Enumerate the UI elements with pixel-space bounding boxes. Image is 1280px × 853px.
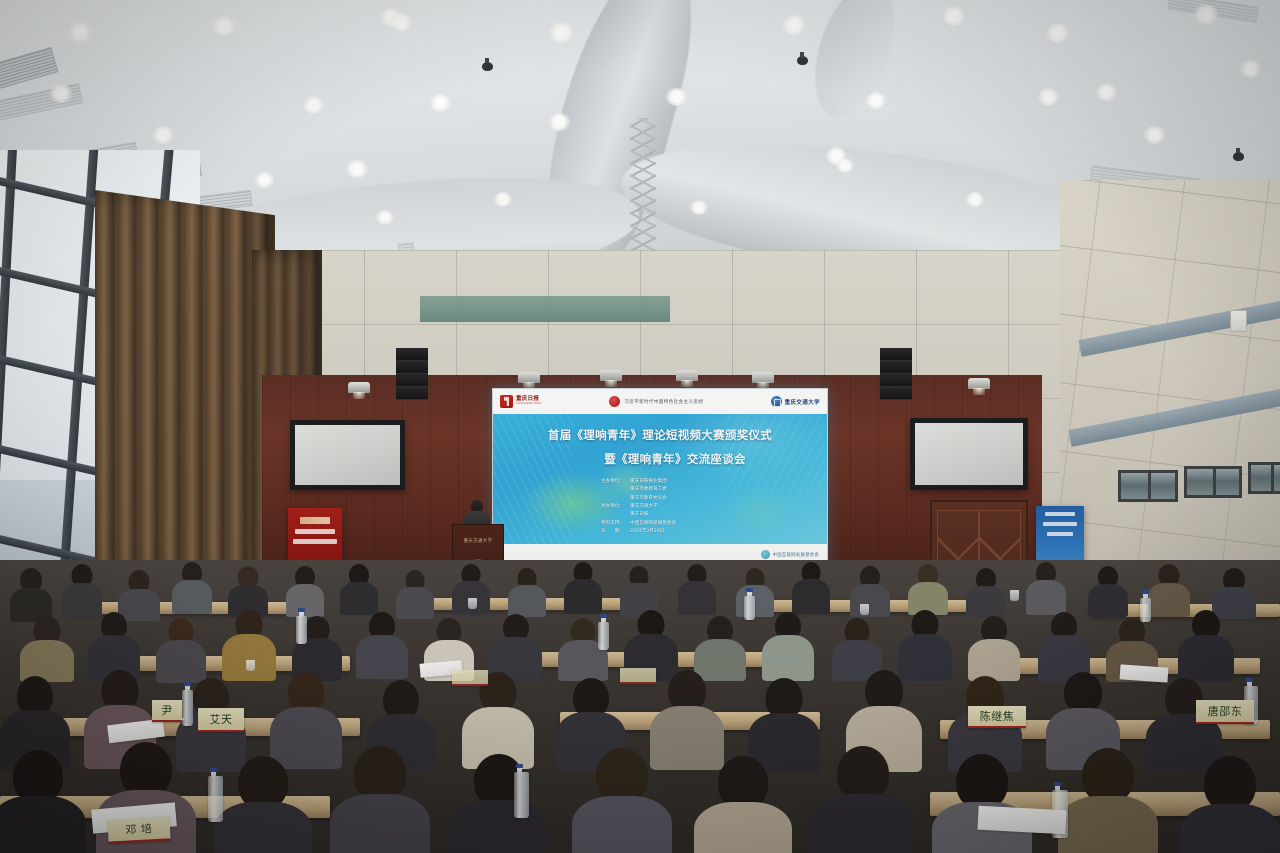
slide-title-line-2: 暨《理响青年》交流座谈会 bbox=[493, 451, 827, 467]
downlight-icon bbox=[1240, 60, 1261, 78]
audience-member bbox=[156, 618, 206, 682]
downlight-icon bbox=[782, 15, 806, 35]
logo-left-en-label: CHONGQING DAILY bbox=[516, 403, 542, 406]
water-bottle bbox=[514, 772, 529, 818]
downlight-icon bbox=[255, 172, 274, 188]
audience-member bbox=[736, 568, 774, 616]
stage-light-icon bbox=[518, 372, 540, 383]
side-display-screen-left bbox=[290, 420, 405, 490]
podium-name-plate: 重庆交通大学 bbox=[464, 538, 493, 544]
slide-meta-value: 重庆交通大学 bbox=[630, 503, 658, 511]
slide-meta-row: 特别支持：中国互联网发展基金会 bbox=[601, 520, 827, 528]
water-bottle bbox=[744, 596, 755, 620]
audience-member-foreground bbox=[0, 750, 86, 853]
name-placard bbox=[452, 670, 488, 686]
downlight-icon bbox=[50, 84, 72, 103]
audience-member bbox=[1026, 562, 1066, 614]
stage-light-icon bbox=[968, 378, 990, 389]
document-paper bbox=[977, 806, 1066, 835]
slide-organizer-list: 主办单位：重庆日报报业集团重庆市委教育工委重庆市教育委员会承办单位：重庆交通大学… bbox=[493, 478, 827, 537]
slide-meta-row: 重庆市教育委员会 bbox=[601, 495, 827, 503]
slide-meta-row: 日 期：2024年3月29日 bbox=[601, 528, 827, 536]
audience-member bbox=[490, 614, 542, 680]
university-seal-icon bbox=[771, 396, 782, 407]
foundation-logo-icon bbox=[761, 550, 770, 559]
speaker-array-icon bbox=[880, 348, 912, 400]
speaker-array-icon bbox=[396, 348, 428, 400]
left-curtain bbox=[95, 190, 275, 610]
audience-member bbox=[620, 566, 658, 616]
downlight-icon bbox=[1046, 23, 1069, 43]
paper-cup bbox=[860, 604, 869, 615]
stage-light-icon bbox=[600, 370, 622, 381]
audience-member bbox=[1178, 610, 1234, 680]
paper-cup bbox=[468, 598, 477, 609]
name-placard: 艾天 bbox=[198, 708, 244, 732]
downlight-icon bbox=[494, 192, 512, 207]
audience-member bbox=[968, 616, 1020, 680]
audience-member bbox=[228, 566, 268, 616]
downlight-icon bbox=[836, 158, 854, 173]
paper-cup bbox=[246, 660, 255, 671]
water-bottle bbox=[296, 616, 307, 644]
standee-red-logo-icon bbox=[300, 517, 330, 524]
audience-member-foreground bbox=[450, 754, 548, 853]
ceiling-camera-icon bbox=[482, 62, 493, 71]
wall-green-accent-band bbox=[420, 296, 670, 322]
logo-right-label: 重庆交通大学 bbox=[785, 398, 820, 406]
audience-member-foreground bbox=[812, 746, 914, 853]
downlight-icon bbox=[666, 88, 687, 106]
audience-member bbox=[762, 612, 814, 680]
downlight-icon bbox=[549, 113, 570, 131]
slide-body: 首届《理响青年》理论短视频大赛颁奖仪式 暨《理响青年》交流座谈会 主办单位：重庆… bbox=[493, 414, 827, 546]
downlight-icon bbox=[549, 22, 574, 43]
audience-member-foreground bbox=[330, 746, 430, 853]
small-window bbox=[1184, 466, 1242, 498]
downlight-icon bbox=[376, 210, 394, 225]
slide-meta-label: 主办单位： bbox=[601, 478, 627, 486]
audience-member bbox=[564, 562, 602, 614]
audience-member bbox=[1038, 612, 1090, 680]
audience-member bbox=[62, 564, 102, 616]
audience-member-foreground bbox=[1058, 748, 1158, 853]
audience-member bbox=[508, 568, 546, 616]
slide-meta-value: 重庆日报报业集团 bbox=[630, 478, 667, 486]
conference-hall-scene: 重庆日报 CHONGQING DAILY 习近平新时代中国特色社会主义思想 重庆… bbox=[0, 0, 1280, 853]
stage-light-icon bbox=[676, 370, 698, 381]
downlight-icon bbox=[690, 200, 708, 215]
standee-blue-line-3 bbox=[1047, 532, 1073, 536]
audience-member bbox=[678, 564, 716, 614]
audience-member bbox=[1148, 564, 1190, 616]
slide-meta-value: 重庆日报 bbox=[630, 511, 648, 519]
downlight-icon bbox=[1038, 88, 1059, 106]
audience-member bbox=[172, 562, 212, 614]
water-bottle bbox=[598, 622, 609, 650]
name-placard: 邓 培 bbox=[107, 816, 170, 843]
slide-meta-value: 重庆市教育委员会 bbox=[630, 495, 667, 503]
audience-member-foreground bbox=[1180, 756, 1280, 853]
slide-meta-row: 重庆市委教育工委 bbox=[601, 486, 827, 494]
downlight-icon bbox=[430, 94, 451, 112]
audience-member bbox=[340, 564, 378, 614]
name-placard bbox=[620, 668, 656, 684]
slide-meta-label bbox=[601, 486, 627, 494]
stage-light-icon bbox=[348, 382, 370, 393]
audience-member bbox=[88, 612, 140, 678]
audience-member bbox=[356, 612, 408, 678]
slide-meta-label: 日 期： bbox=[601, 528, 627, 536]
slide-meta-label: 特别支持： bbox=[601, 520, 627, 528]
chongqing-daily-logo-icon bbox=[500, 395, 513, 408]
slide-footer-label: 中国互联网发展基金会 bbox=[773, 552, 819, 558]
downlight-icon bbox=[966, 192, 984, 207]
downlight-icon bbox=[1144, 126, 1165, 144]
slide-meta-row: 承办单位：重庆交通大学 bbox=[601, 503, 827, 511]
downlight-icon bbox=[346, 160, 368, 178]
paper-cup bbox=[1010, 590, 1019, 601]
slide-meta-value: 中国互联网发展基金会 bbox=[630, 520, 676, 528]
main-projection-screen: 重庆日报 CHONGQING DAILY 习近平新时代中国特色社会主义思想 重庆… bbox=[492, 388, 828, 566]
audience-floor: 尹 艾天 陈继焦 唐邵东 邓 培 bbox=[0, 560, 1280, 853]
audience-member bbox=[10, 568, 52, 620]
slide-logo-bar: 重庆日报 CHONGQING DAILY 习近平新时代中国特色社会主义思想 重庆… bbox=[493, 389, 827, 414]
ceiling-camera-icon bbox=[797, 56, 808, 65]
audience-member bbox=[850, 566, 890, 616]
logo-center-label: 习近平新时代中国特色社会主义思想 bbox=[624, 399, 703, 405]
ceiling-soffit-curve-upper-right bbox=[800, 0, 910, 127]
downlight-icon bbox=[1096, 83, 1117, 101]
slide-title-line-1: 首届《理响青年》理论短视频大赛颁奖仪式 bbox=[493, 427, 827, 443]
audience-member bbox=[908, 564, 948, 614]
audience-member bbox=[286, 566, 324, 616]
slide-meta-label bbox=[601, 495, 627, 503]
downlight-icon bbox=[942, 6, 965, 26]
water-bottle bbox=[1140, 598, 1151, 622]
ceiling-camera-icon bbox=[1233, 152, 1244, 161]
slide-meta-value: 2024年3月29日 bbox=[630, 528, 664, 536]
downlight-icon bbox=[866, 92, 886, 109]
ac-vent-icon bbox=[0, 47, 58, 89]
name-placard: 陈继焦 bbox=[968, 706, 1026, 728]
downlight-icon bbox=[152, 126, 174, 144]
water-bottle bbox=[208, 776, 223, 822]
slide-meta-value: 重庆市委教育工委 bbox=[630, 486, 667, 494]
slide-meta-label bbox=[601, 511, 627, 519]
audience-member bbox=[966, 568, 1006, 616]
wall-mounted-device bbox=[1230, 310, 1247, 332]
audience-member-foreground bbox=[572, 748, 672, 853]
audience-member-foreground bbox=[932, 754, 1032, 853]
logo-university: 重庆交通大学 bbox=[771, 396, 820, 407]
water-bottle bbox=[182, 690, 193, 726]
small-window bbox=[1118, 470, 1178, 502]
logo-center-group: 习近平新时代中国特色社会主义思想 bbox=[609, 396, 703, 407]
slide-meta-label: 承办单位： bbox=[601, 503, 627, 511]
standee-red-line-2 bbox=[293, 539, 337, 544]
name-placard: 尹 bbox=[152, 700, 182, 722]
stage-light-icon bbox=[752, 372, 774, 383]
audience-member bbox=[396, 570, 434, 618]
slide-meta-row: 主办单位：重庆日报报业集团 bbox=[601, 478, 827, 486]
side-display-screen-right bbox=[910, 418, 1028, 490]
audience-member-foreground bbox=[214, 756, 312, 853]
standee-red-line-1 bbox=[295, 529, 335, 534]
name-placard: 唐邵东 bbox=[1196, 700, 1254, 724]
audience-member bbox=[1088, 566, 1128, 616]
downlight-icon bbox=[303, 96, 324, 114]
audience-member-foreground bbox=[694, 756, 792, 853]
standee-blue-line-2 bbox=[1043, 522, 1077, 526]
center-emblem-icon bbox=[609, 396, 620, 407]
audience-member bbox=[792, 562, 830, 614]
audience-member bbox=[20, 616, 74, 680]
right-stone-wall bbox=[1060, 180, 1280, 610]
downlight-icon bbox=[68, 22, 92, 42]
downlight-icon bbox=[1194, 4, 1218, 25]
logo-chongqing-daily: 重庆日报 CHONGQING DAILY bbox=[500, 395, 542, 408]
downlight-icon bbox=[390, 13, 412, 32]
small-window bbox=[1248, 462, 1280, 494]
slide-meta-row: 重庆日报 bbox=[601, 511, 827, 519]
standee-blue-line-1 bbox=[1045, 512, 1075, 516]
downlight-icon bbox=[212, 16, 236, 36]
